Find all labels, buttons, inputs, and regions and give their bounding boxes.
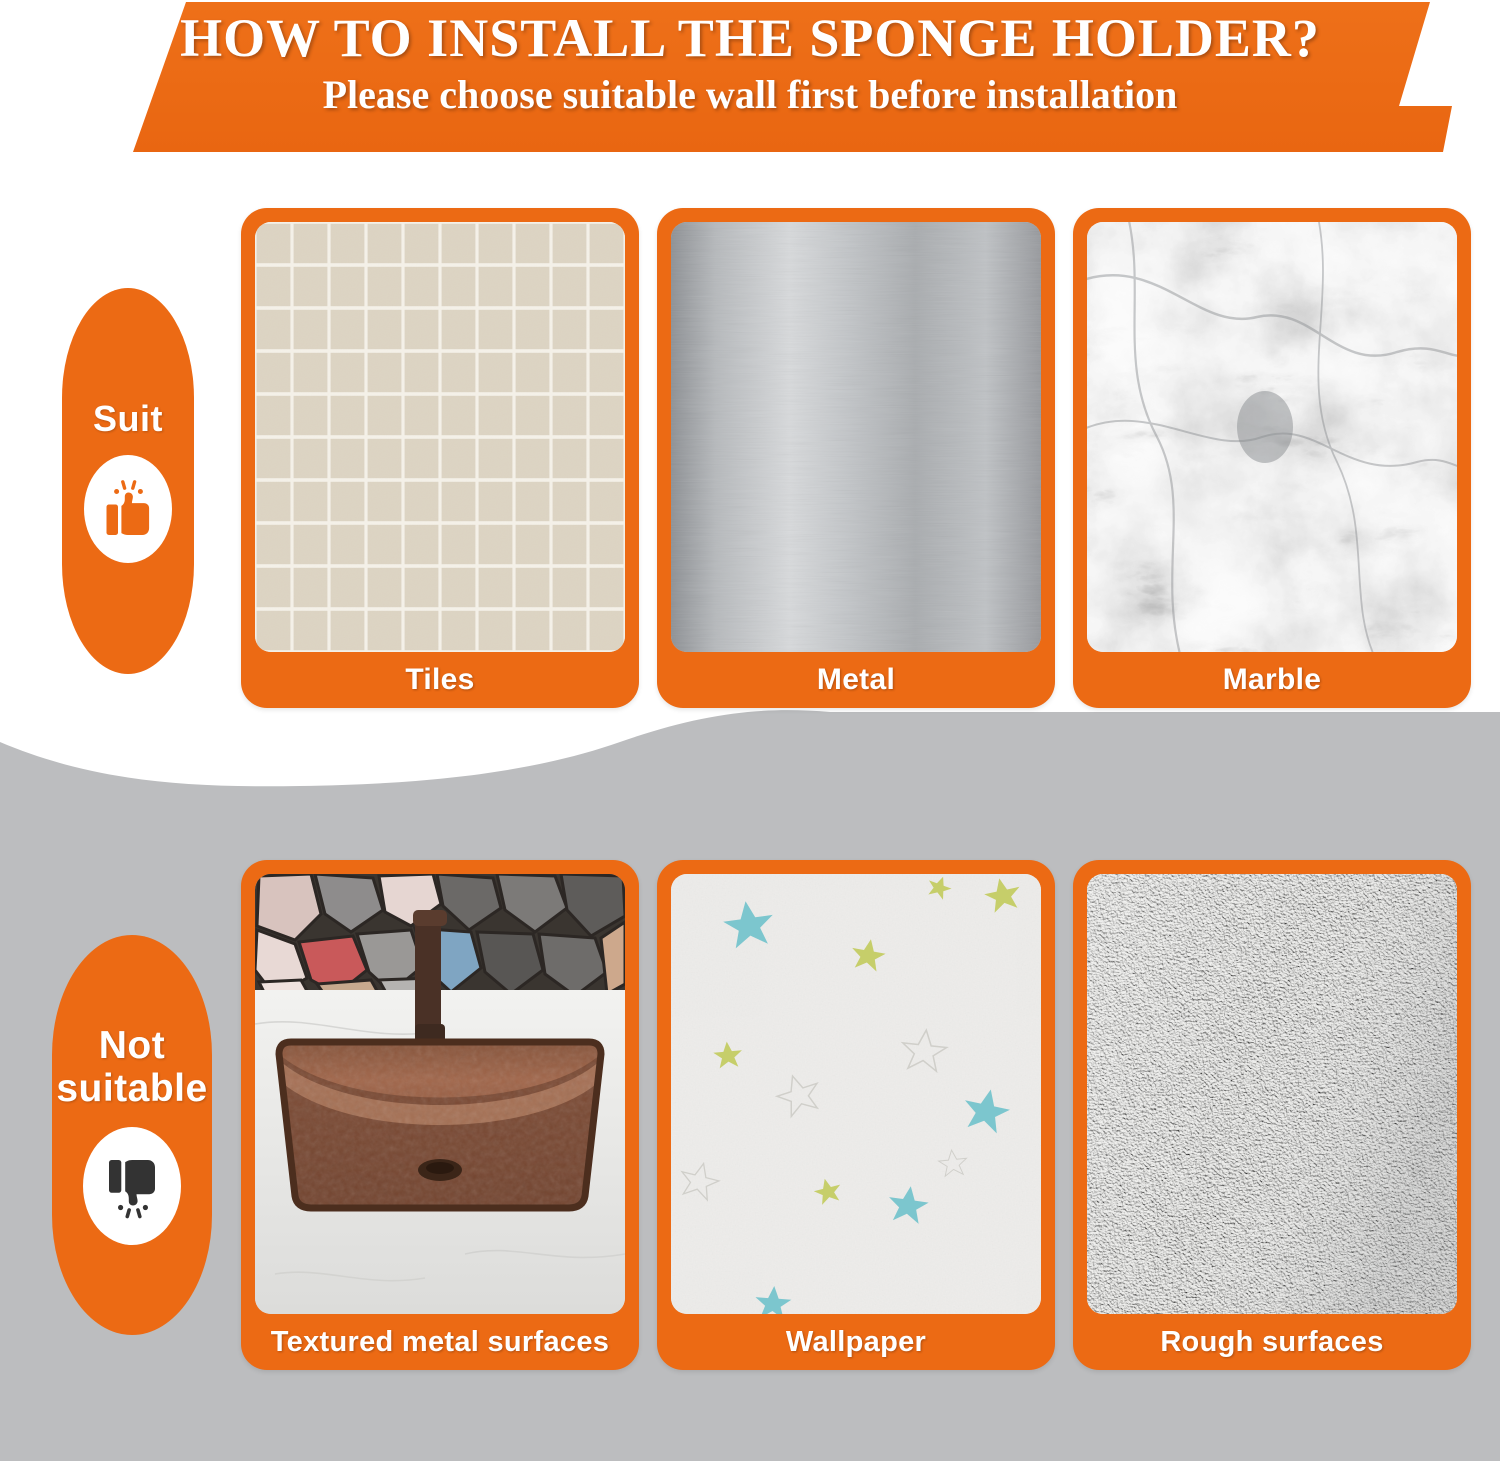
- card-marble-image: [1087, 222, 1457, 652]
- card-tiles-image: [255, 222, 625, 652]
- card-marble-label: Marble: [1087, 652, 1457, 708]
- badge-not-suitable: Not suitable: [52, 935, 212, 1335]
- card-wallpaper-image: [671, 874, 1041, 1314]
- badge-suitable: Suit: [62, 288, 194, 674]
- suitable-cards-row: Tiles: [241, 208, 1471, 708]
- badge-suitable-icon-circle: [84, 455, 172, 563]
- header-banner: [0, 0, 1500, 170]
- card-marble[interactable]: Marble: [1073, 208, 1471, 708]
- badge-not-suitable-label-line1: Not: [99, 1024, 165, 1067]
- thumbs-down-icon: [104, 1153, 160, 1219]
- badge-not-suitable-icon-circle: [83, 1127, 181, 1245]
- card-rough-surfaces-image: [1087, 874, 1457, 1314]
- card-textured-metal-label: Textured metal surfaces: [255, 1314, 625, 1370]
- badge-suitable-label: Suit: [93, 399, 163, 439]
- badge-not-suitable-label-line2: suitable: [56, 1067, 207, 1110]
- card-metal-label: Metal: [671, 652, 1041, 708]
- card-wallpaper-label: Wallpaper: [671, 1314, 1041, 1370]
- card-rough-surfaces[interactable]: Rough surfaces: [1073, 860, 1471, 1370]
- card-metal[interactable]: Metal: [657, 208, 1055, 708]
- card-wallpaper[interactable]: Wallpaper: [657, 860, 1055, 1370]
- card-tiles[interactable]: Tiles: [241, 208, 639, 708]
- card-rough-surfaces-label: Rough surfaces: [1087, 1314, 1457, 1370]
- badge-not-suitable-label: Not suitable: [56, 1025, 207, 1111]
- card-textured-metal-image: [255, 874, 625, 1314]
- not-suitable-cards-row: Textured metal surfaces: [241, 860, 1471, 1370]
- card-metal-image: [671, 222, 1041, 652]
- thumbs-up-icon: [102, 478, 154, 540]
- card-tiles-label: Tiles: [255, 652, 625, 708]
- card-textured-metal[interactable]: Textured metal surfaces: [241, 860, 639, 1370]
